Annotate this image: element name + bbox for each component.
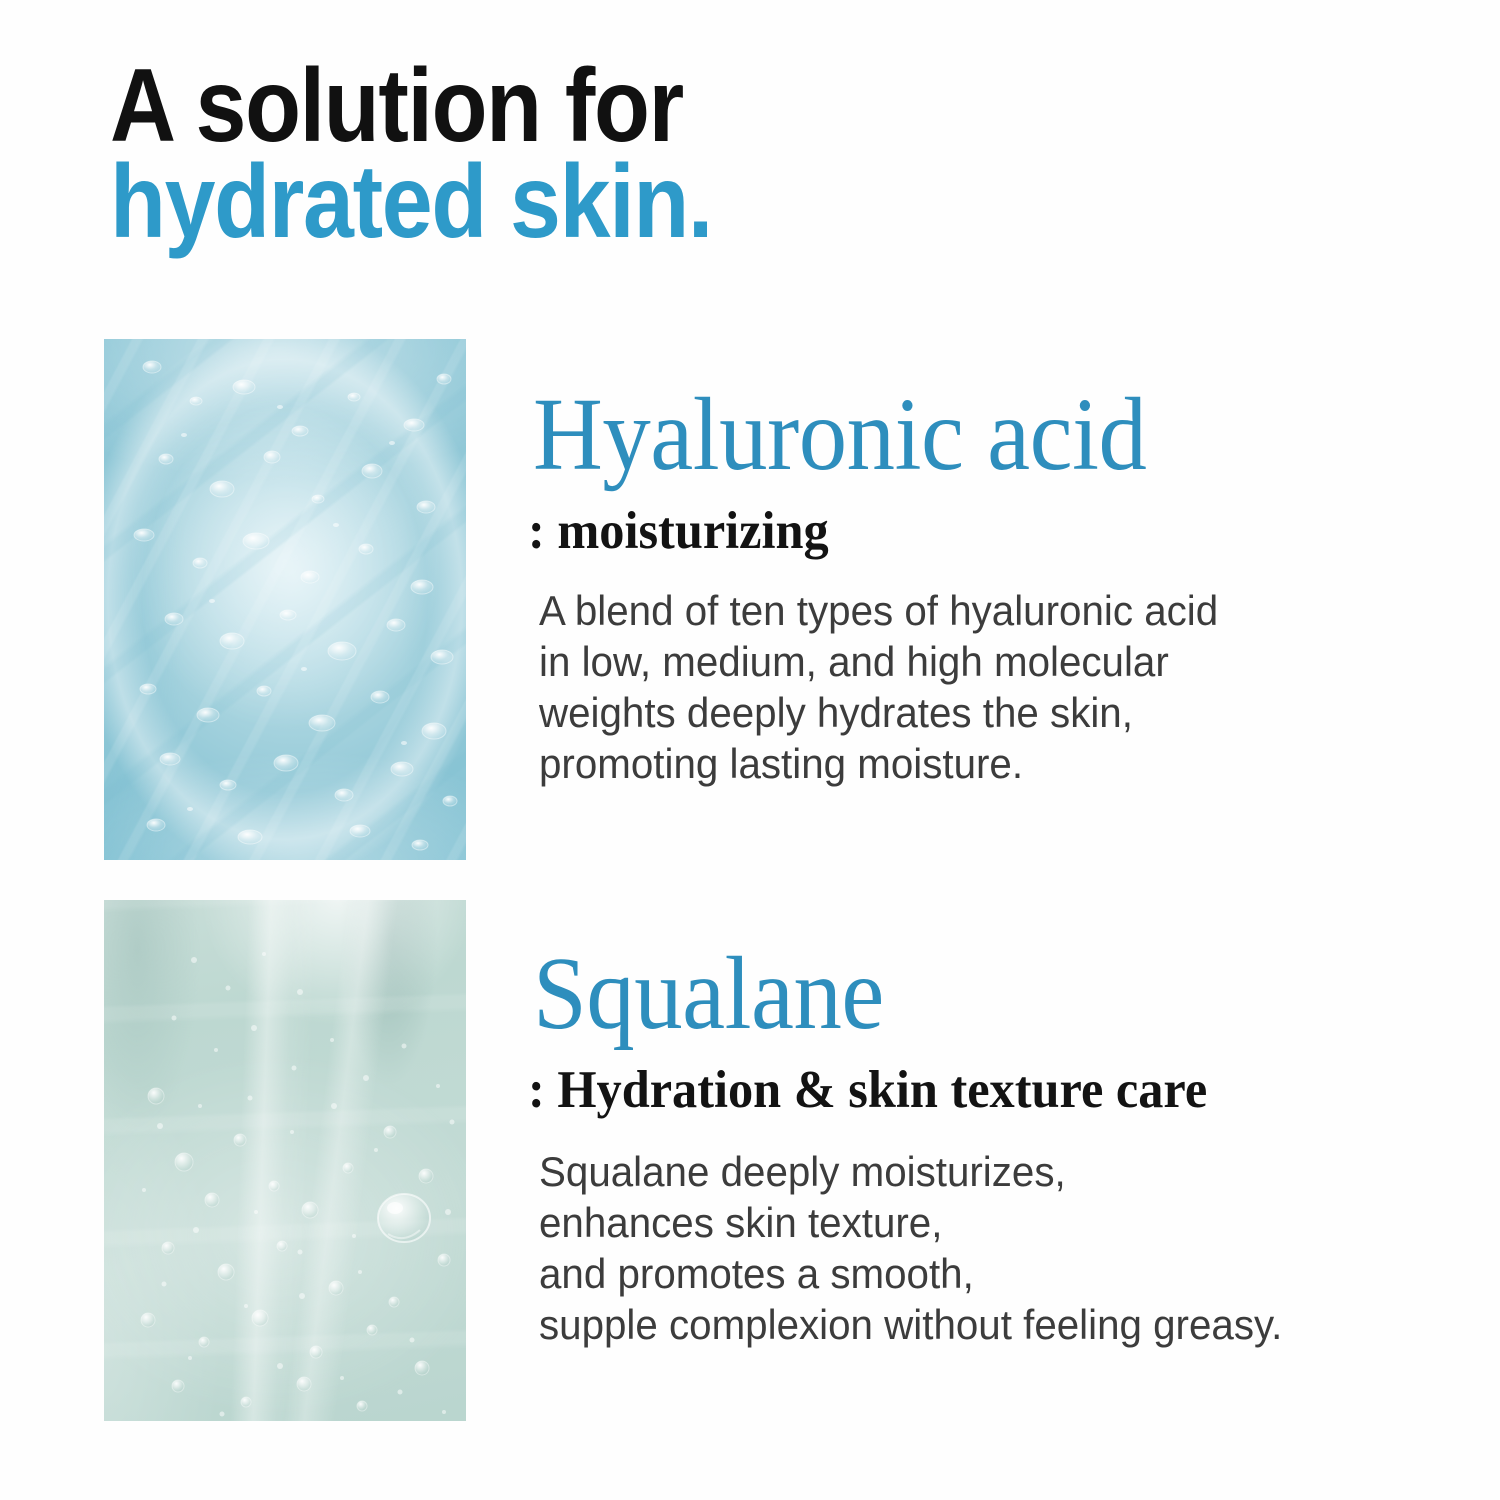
ingredient-name-squalane: Squalane — [533, 942, 1398, 1046]
hyaluronic-text-column: Hyaluronic acid : moisturizing A blend o… — [533, 339, 1463, 789]
ingredient-description-hyaluronic: A blend of ten types of hyaluronic acid … — [539, 585, 1426, 789]
bubble-overlay-icon — [104, 339, 466, 860]
ingredient-description-squalane: Squalane deeply moisturizes, enhances sk… — [539, 1146, 1426, 1350]
description-line: enhances skin texture, — [539, 1197, 1426, 1248]
hyaluronic-acid-gel-texture-image — [104, 339, 466, 860]
description-line: A blend of ten types of hyaluronic acid — [539, 585, 1426, 636]
description-line: Squalane deeply moisturizes, — [539, 1146, 1426, 1197]
bubble-overlay-icon — [104, 900, 466, 1421]
infographic-page: A solution for hydrated skin. — [0, 0, 1500, 1500]
page-headline: A solution for hydrated skin. — [110, 58, 1410, 250]
description-line: supple complexion without feeling greasy… — [539, 1299, 1426, 1350]
ingredient-block-hyaluronic: Hyaluronic acid : moisturizing A blend o… — [0, 339, 1500, 861]
ingredient-subtitle-hyaluronic: : moisturizing — [528, 501, 1416, 561]
description-line: weights deeply hydrates the skin, — [539, 687, 1426, 738]
ingredient-name-hyaluronic: Hyaluronic acid — [533, 383, 1398, 487]
description-line: and promotes a smooth, — [539, 1248, 1426, 1299]
description-line: in low, medium, and high molecular — [539, 636, 1426, 687]
headline-line-1: A solution for — [110, 58, 1254, 154]
headline-line-2: hydrated skin. — [110, 154, 1254, 250]
ingredient-subtitle-squalane: : Hydration & skin texture care — [528, 1060, 1416, 1120]
description-line: promoting lasting moisture. — [539, 738, 1426, 789]
squalane-text-column: Squalane : Hydration & skin texture care… — [533, 900, 1463, 1350]
squalane-gel-texture-image — [104, 900, 466, 1421]
ingredient-block-squalane: Squalane : Hydration & skin texture care… — [0, 900, 1500, 1421]
